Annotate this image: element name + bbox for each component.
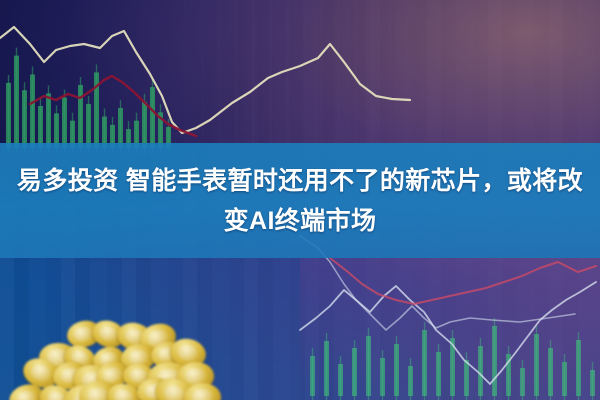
headline-line-2: 变AI终端市场 (224, 201, 377, 241)
cream-trend-line (0, 27, 410, 133)
red-trend-line (330, 258, 596, 304)
gold-coin-pile (8, 310, 203, 400)
candlestick-group-bottom (310, 318, 595, 400)
headline-line-1: 易多投资 智能手表暂时还用不了的新芯片，或将改 (17, 161, 583, 201)
headline: 易多投资 智能手表暂时还用不了的新芯片，或将改 变AI终端市场 (0, 143, 600, 258)
candlestick-group-top (6, 48, 171, 154)
article-cover-image: 易多投资 智能手表暂时还用不了的新芯片，或将改 变AI终端市场 (0, 0, 600, 400)
